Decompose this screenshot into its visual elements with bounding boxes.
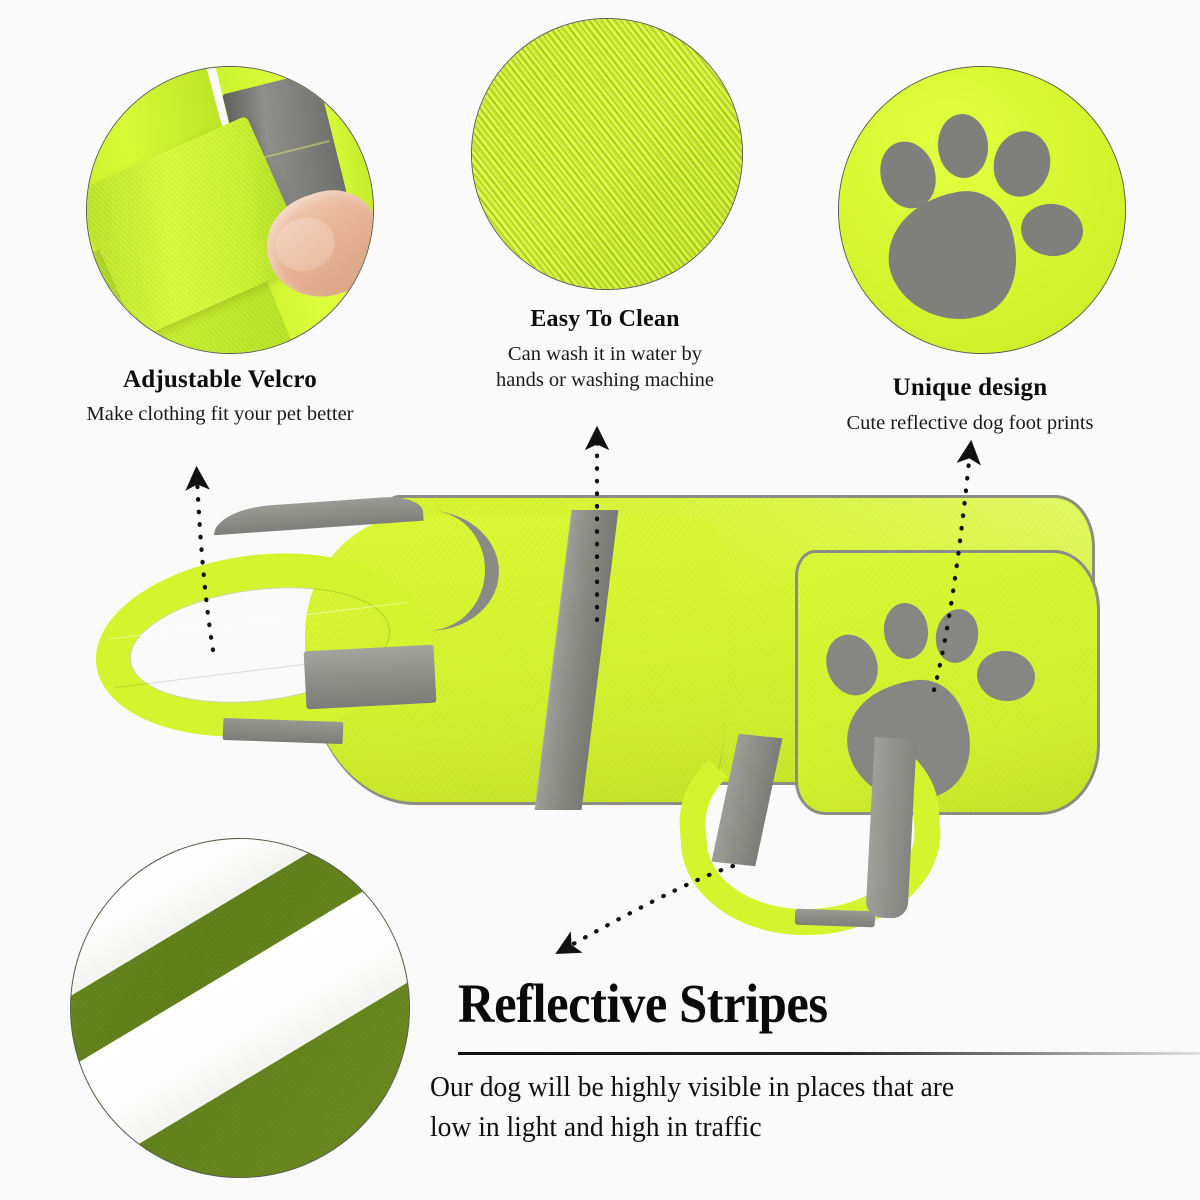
callout-subtitle-easy-to-clean: Can wash it in water by hands or washing… (430, 342, 780, 394)
feature-banner-description-line1: Our dog will be highly visible in places… (430, 1068, 1200, 1108)
feature-banner-title: Reflective Stripes (458, 972, 828, 1035)
callout-subtitle-easy-to-clean-line1: Can wash it in water by (430, 342, 780, 368)
callout-title-unique-design: Unique design (800, 374, 1140, 402)
arrow-to-velcro (197, 478, 213, 650)
callout-title-adjustable-velcro: Adjustable Velcro (0, 366, 440, 394)
callout-subtitle-easy-to-clean-line2: hands or washing machine (430, 368, 780, 394)
callout-subtitle-adjustable-velcro: Make clothing fit your pet better (0, 402, 440, 428)
feature-banner-divider (458, 1052, 1200, 1055)
feature-banner-description: Our dog will be highly visible in places… (430, 1068, 1200, 1147)
callout-title-easy-to-clean: Easy To Clean (430, 306, 780, 333)
product-infographic: Adjustable Velcro Make clothing fit your… (0, 0, 1200, 1200)
arrow-to-paw (934, 452, 970, 690)
feature-banner-description-line2: low in light and high in traffic (430, 1108, 1200, 1148)
arrow-to-stripes (566, 866, 733, 948)
callout-subtitle-unique-design: Cute reflective dog foot prints (790, 411, 1150, 437)
